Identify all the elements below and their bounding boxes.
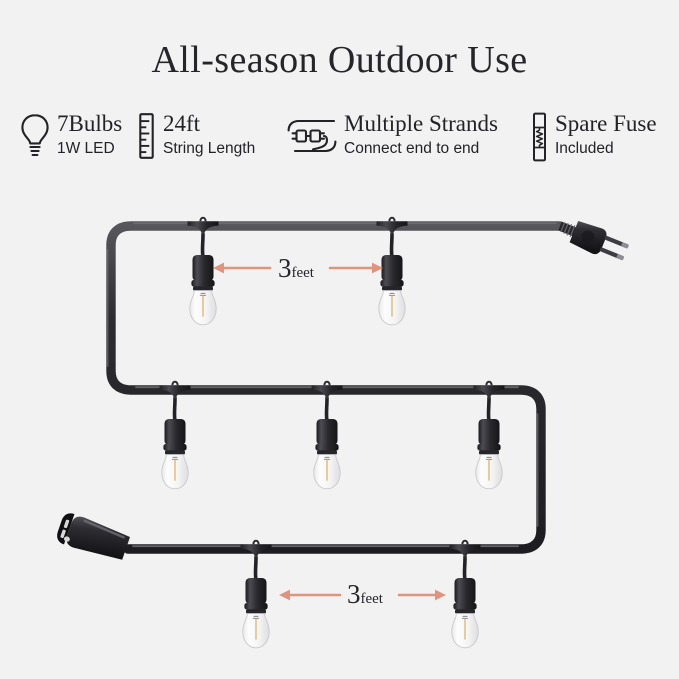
measure-bottom-unit: feet [361, 591, 383, 607]
bulb-1 [188, 218, 219, 325]
measure-top-unit: feet [292, 265, 314, 281]
male-plug [555, 213, 631, 265]
string-light-layout-diagram [0, 0, 679, 679]
bulb-5 [474, 382, 505, 489]
bulb-3 [160, 382, 191, 489]
infographic-page: All-season Outdoor Use 7Bulbs 1W LED [0, 0, 679, 679]
bulb-4 [312, 382, 343, 489]
measure-label-top: 3feet [278, 255, 314, 282]
female-socket-end [55, 511, 132, 564]
measure-top-number: 3 [278, 253, 292, 283]
measure-bottom-number: 3 [347, 579, 361, 609]
bulb-6 [241, 541, 272, 648]
measure-label-bottom: 3feet [347, 581, 383, 608]
bulb-7 [450, 541, 481, 648]
bulb-2 [377, 218, 408, 325]
